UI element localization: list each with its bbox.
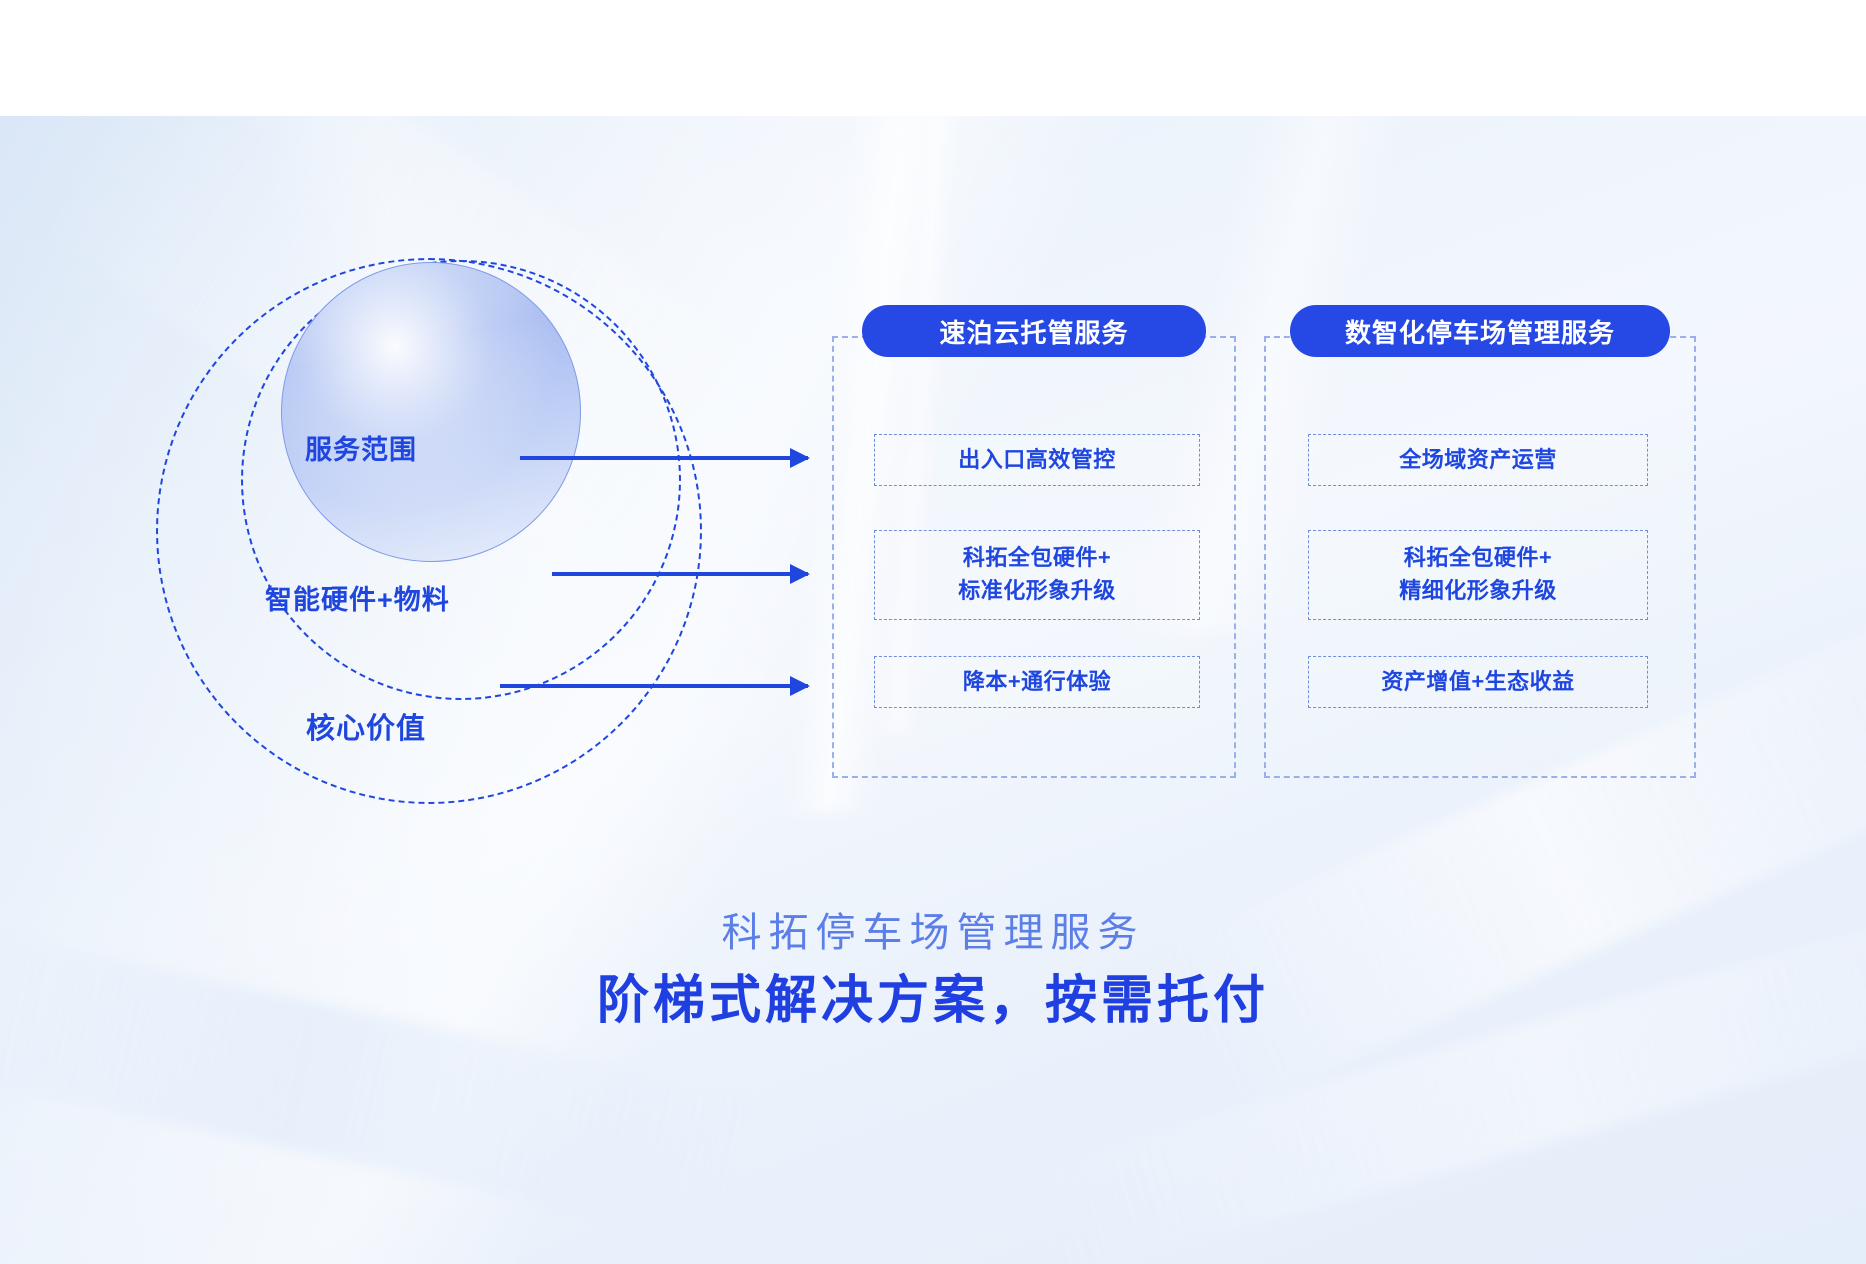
service-item-line: 资产增值+生态收益 <box>1381 666 1574 699</box>
service-item[interactable]: 科拓全包硬件+ 标准化形象升级 <box>874 530 1200 620</box>
footer-subtitle: 科拓停车场管理服务 <box>0 908 1866 958</box>
ring-label-smart-hardware: 智能硬件+物料 <box>265 578 450 617</box>
top-white-band <box>0 0 1866 116</box>
ring-label-service-scope: 服务范围 <box>305 428 417 467</box>
service-item-line: 精细化形象升级 <box>1399 575 1557 608</box>
inner-ring-gradient-circle <box>281 262 581 562</box>
service-item-line: 全场域资产运营 <box>1399 444 1557 477</box>
connector-arrow-scope <box>520 456 808 460</box>
service-item[interactable]: 出入口高效管控 <box>874 434 1200 486</box>
service-item-line: 科拓全包硬件+ <box>963 542 1111 575</box>
service-item[interactable]: 资产增值+生态收益 <box>1308 656 1648 708</box>
slide-canvas: 服务范围 智能硬件+物料 核心价值 速泊云托管服务 出入口高效管控 科拓全包硬件… <box>0 0 1866 1264</box>
service-item[interactable]: 降本+通行体验 <box>874 656 1200 708</box>
service-item-line: 出入口高效管控 <box>958 444 1116 477</box>
service-panel-title-supa-cloud-hosting[interactable]: 速泊云托管服务 <box>862 305 1206 357</box>
connector-arrow-core-value <box>500 684 808 688</box>
service-panel-title-digital-parking-management[interactable]: 数智化停车场管理服务 <box>1290 305 1670 357</box>
service-item-line: 降本+通行体验 <box>963 666 1111 699</box>
ring-label-core-value: 核心价值 <box>306 705 426 747</box>
connector-arrow-hardware <box>552 572 808 576</box>
service-item-line: 标准化形象升级 <box>958 575 1116 608</box>
footer-headline: 阶梯式解决方案，按需托付 <box>0 966 1866 1036</box>
service-item-line: 科拓全包硬件+ <box>1404 542 1552 575</box>
service-item[interactable]: 科拓全包硬件+ 精细化形象升级 <box>1308 530 1648 620</box>
footer-headline-block: 科拓停车场管理服务 阶梯式解决方案，按需托付 <box>0 908 1866 1036</box>
service-item[interactable]: 全场域资产运营 <box>1308 434 1648 486</box>
